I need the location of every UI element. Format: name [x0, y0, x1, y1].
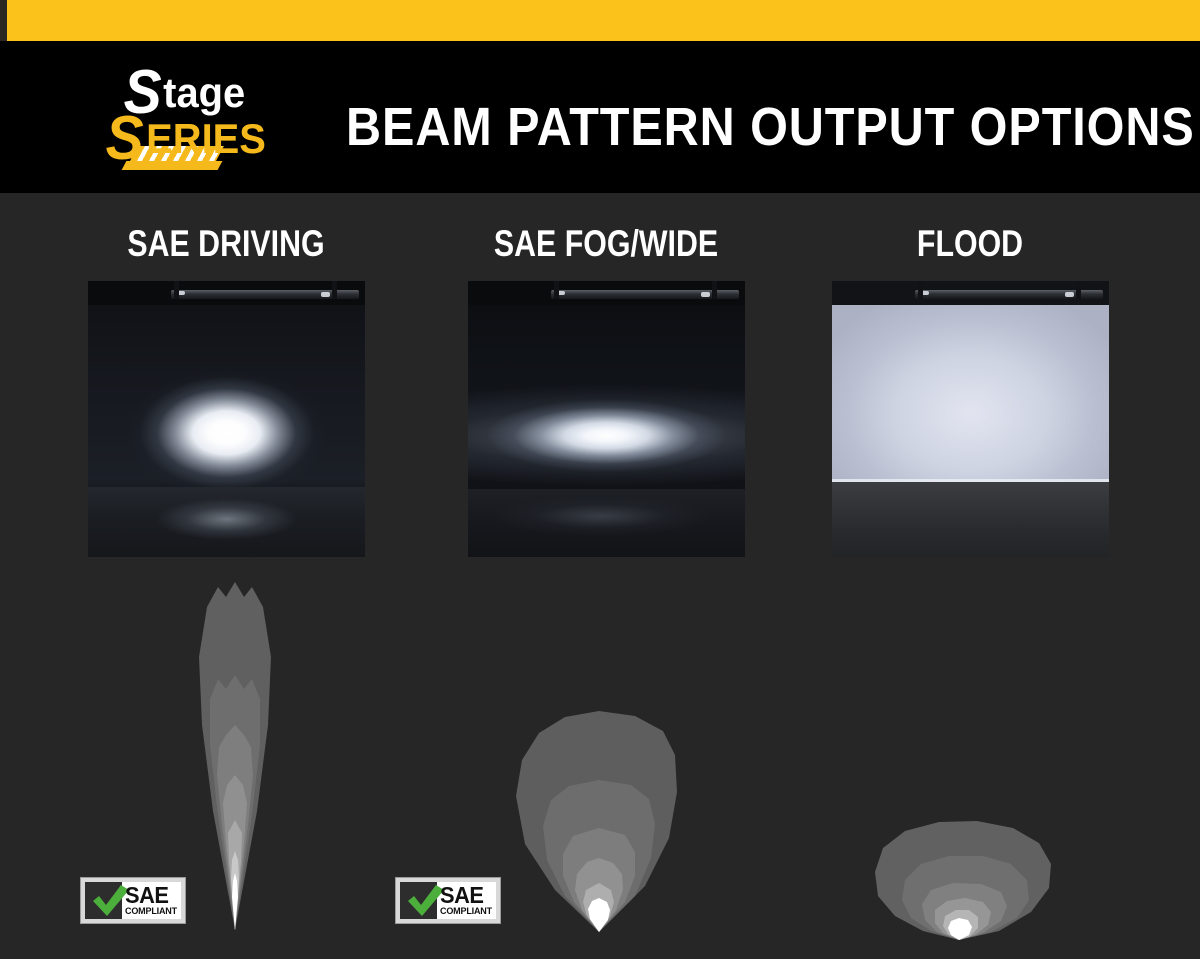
pipe-glint-secondary-icon — [701, 292, 710, 297]
pipe-bracket-right — [332, 281, 337, 299]
floor-reflection-flood — [832, 482, 1109, 557]
pipe-glint-secondary-icon — [1065, 292, 1074, 297]
sae-badge-inner: SAE COMPLIANT — [400, 882, 496, 919]
sae-badge-sub: COMPLIANT — [440, 906, 493, 917]
pipe-bracket-left — [554, 281, 559, 299]
sae-badge-word: SAE — [125, 885, 178, 906]
pipe-bracket-left — [918, 281, 923, 299]
beam-core — [588, 898, 610, 932]
ceiling-pipe-sae-fog-wide — [468, 281, 745, 305]
column-title-flood: FLOOD — [857, 222, 1083, 266]
beam-pattern-infographic: Stage SERIES BEAM PATTERN OUTPUT OPTIONS… — [0, 0, 1200, 959]
sae-badge-inner: SAE COMPLIANT — [85, 882, 181, 919]
beam-photo-flood — [832, 281, 1109, 557]
ceiling-pipe-sae-driving — [88, 281, 365, 305]
sae-badge-text: SAE COMPLIANT — [122, 885, 181, 917]
beam-layers-sae-driving — [199, 582, 271, 930]
beam-pattern-diagram-flood — [855, 800, 1067, 940]
sae-badge-text: SAE COMPLIANT — [437, 885, 496, 917]
beam-pattern-diagram-sae-fog-wide — [495, 700, 695, 932]
logo-initial-s-series: S — [106, 110, 142, 168]
beam-photo-sae-fog-wide — [468, 281, 745, 557]
sae-compliant-badge-fog-wide: SAE COMPLIANT — [395, 877, 501, 924]
page-title: BEAM PATTERN OUTPUT OPTIONS — [346, 95, 1066, 163]
logo-line-series: SERIES — [104, 110, 269, 168]
logo-word-series: ERIES — [147, 110, 267, 168]
top-accent-bar — [0, 0, 1200, 41]
beam-layers-sae-fog-wide — [516, 711, 677, 932]
floor-reflection-sae-fog-wide — [468, 489, 745, 557]
top-accent-bar-edge — [0, 0, 7, 41]
sae-badge-sub: COMPLIANT — [125, 906, 178, 917]
pipe-bracket-right — [1076, 281, 1081, 299]
pipe-glint-secondary-icon — [321, 292, 330, 297]
beam-layers-flood — [875, 821, 1051, 940]
column-title-sae-driving: SAE DRIVING — [113, 222, 339, 266]
ceiling-pipe-flood — [832, 281, 1109, 305]
sae-compliant-badge-driving: SAE COMPLIANT — [80, 877, 186, 924]
pipe-bracket-left — [174, 281, 179, 299]
sae-badge-word: SAE — [440, 885, 493, 906]
column-title-sae-fog-wide: SAE FOG/WIDE — [493, 222, 719, 266]
floor-reflection-sae-driving — [88, 487, 365, 557]
stage-series-logo: Stage SERIES — [104, 62, 319, 174]
pipe-bracket-right — [712, 281, 717, 299]
beam-photo-sae-driving — [88, 281, 365, 557]
